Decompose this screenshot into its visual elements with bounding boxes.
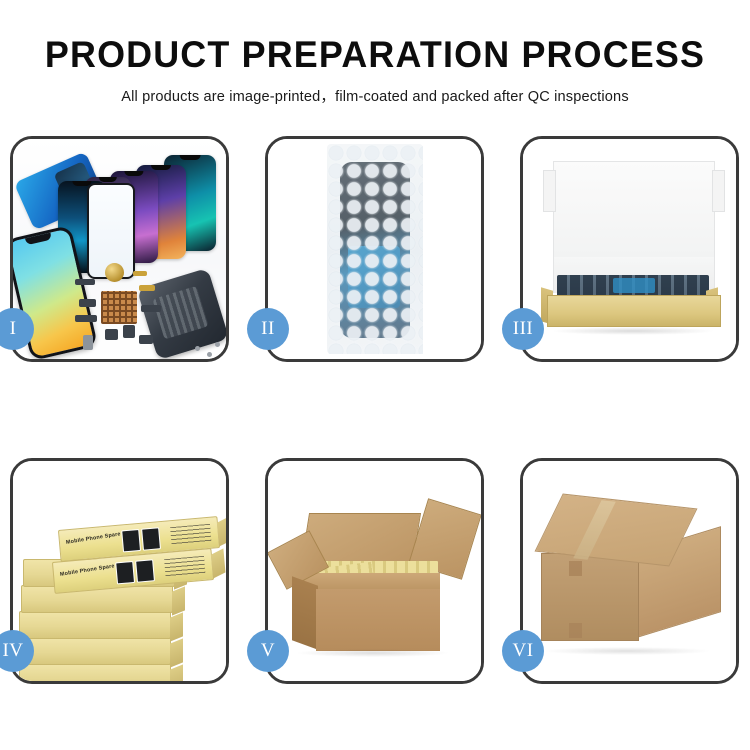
step-image-2 [268, 139, 481, 359]
step-image-4: Mobile Phone Spare Parts Mobile Phone Sp… [13, 461, 226, 681]
box-phone-image [121, 529, 141, 552]
box-spec-text [170, 524, 212, 546]
screw-part [215, 342, 220, 347]
step-badge-2: II [247, 308, 289, 350]
carton-side [292, 576, 318, 649]
step-panel-3: III [520, 136, 739, 362]
screw-part [207, 352, 212, 357]
step-panel-5: V [265, 458, 484, 684]
step-badge-3: III [502, 308, 544, 350]
box-side [172, 586, 185, 615]
copper-coil-part [105, 263, 124, 282]
box-phone-image [115, 561, 135, 584]
box-front-panel [547, 295, 721, 327]
product-box [19, 611, 171, 639]
spare-part [105, 329, 118, 340]
spare-part [75, 279, 95, 285]
carton-front [316, 589, 440, 651]
bubble-wrap-package [327, 144, 423, 354]
phone-notch-icon [124, 171, 143, 176]
box-side [170, 638, 183, 667]
screw-part [195, 346, 200, 351]
box-side [170, 664, 183, 681]
page-title: PRODUCT PREPARATION PROCESS [11, 0, 739, 75]
spare-part [139, 335, 153, 344]
step-image-5 [268, 461, 481, 681]
spare-part [133, 271, 147, 276]
phone-chassis [137, 268, 226, 359]
spare-part [75, 315, 97, 322]
page-header: PRODUCT PREPARATION PROCESS All products… [0, 0, 750, 106]
step-badge-5: V [247, 630, 289, 672]
step-badge-6: VI [502, 630, 544, 672]
spare-part [123, 325, 135, 338]
open-inner-box-scene [523, 139, 736, 359]
box-phone-image [135, 559, 155, 582]
box-side [170, 612, 183, 641]
step-image-3 [523, 139, 736, 359]
box-phone-image [141, 527, 161, 550]
carton-tab [569, 561, 582, 576]
box-side [217, 516, 226, 546]
connector-grid-part [101, 291, 137, 324]
sealed-carton-scene [523, 461, 736, 681]
page-subtitle: All products are image-printed，film-coat… [0, 75, 750, 106]
box-spec-text [164, 556, 206, 578]
stacked-boxes-scene: Mobile Phone Spare Parts Mobile Phone Sp… [13, 461, 226, 681]
step-image-1 [13, 139, 226, 359]
box-side [211, 548, 226, 578]
spare-part [139, 285, 155, 291]
drop-shadow [298, 649, 448, 657]
spare-part [141, 305, 161, 312]
step-image-6 [523, 461, 736, 681]
open-carton-scene [268, 461, 481, 681]
process-steps-grid: I II III [10, 136, 740, 684]
phone-notch-icon [180, 155, 201, 160]
drop-shadow [551, 327, 715, 335]
spare-part [79, 299, 96, 307]
product-box [19, 663, 171, 681]
step-panel-2: II [265, 136, 484, 362]
step-panel-6: VI [520, 458, 739, 684]
product-box [19, 637, 171, 665]
screens-and-parts-scene [13, 139, 226, 359]
phone-notch-icon [151, 165, 171, 170]
spare-part [83, 335, 93, 350]
bubble-texture [327, 144, 423, 354]
carton-tab [569, 623, 582, 638]
drop-shadow [545, 647, 709, 655]
step-panel-4: Mobile Phone Spare Parts Mobile Phone Sp… [10, 458, 229, 684]
bubble-wrap-scene [268, 139, 481, 359]
carton-front [541, 553, 639, 641]
step-panel-1: I [10, 136, 229, 362]
wrapped-screens-stack [557, 275, 709, 297]
